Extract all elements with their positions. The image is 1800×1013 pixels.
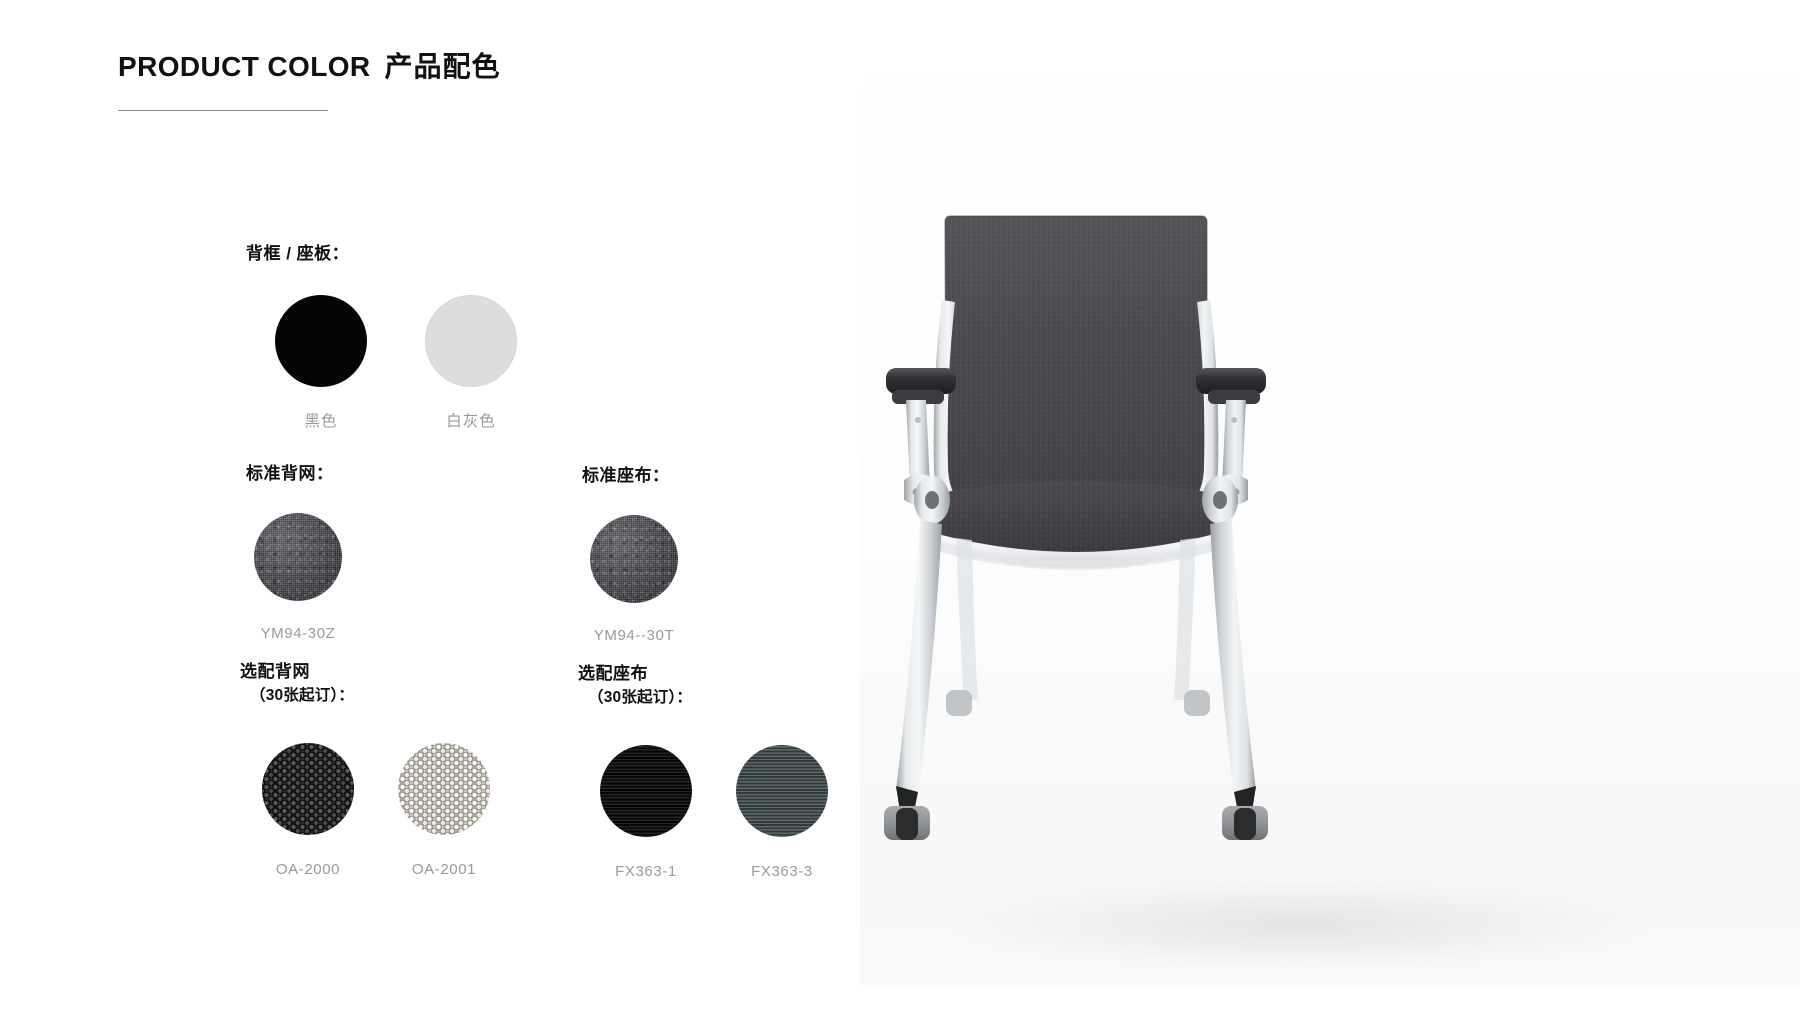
- swatch-cell-black[interactable]: 黑色: [246, 295, 396, 431]
- swatch-label-black: 黑色: [304, 409, 337, 431]
- swatch-cell-fx363-1[interactable]: FX363-1: [578, 745, 714, 880]
- swatch-group-frame-seat-board: 背框 / 座板： 黑色 白灰色: [246, 242, 546, 431]
- swatch-disc-white-grey[interactable]: [425, 295, 517, 387]
- swatch-label-fx363-1: FX363-1: [615, 863, 677, 880]
- swatch-label-ym94-30t: YM94--30T: [594, 627, 674, 644]
- swatch-disc-black[interactable]: [275, 295, 367, 387]
- swatch-row: YM94-30Z: [246, 513, 350, 642]
- swatch-cell-white-grey[interactable]: 白灰色: [396, 295, 546, 431]
- swatch-cell-ym94-30t[interactable]: YM94--30T: [582, 515, 686, 644]
- swatch-cell-fx363-3[interactable]: FX363-3: [714, 745, 850, 880]
- group-heading-frame-seat-board: 背框 / 座板：: [246, 242, 546, 267]
- swatch-group-optional-back-mesh: 选配背网 （30张起订）： OA-2000 OA-2001: [240, 660, 512, 878]
- swatch-row: 黑色 白灰色: [246, 295, 546, 431]
- swatch-disc-fx363-1[interactable]: [600, 745, 692, 837]
- swatch-disc-fx363-3[interactable]: [736, 745, 828, 837]
- group-heading-standard-seat-fabric: 标准座布：: [582, 464, 686, 489]
- swatch-disc-oa-2001[interactable]: [398, 743, 490, 835]
- swatch-label-oa-2000: OA-2000: [276, 861, 340, 878]
- chair-seat: [930, 481, 1222, 570]
- group-heading-line1: 选配背网: [240, 662, 310, 681]
- office-chair-illustration: [860, 0, 1800, 1013]
- swatch-disc-oa-2000[interactable]: [262, 743, 354, 835]
- swatch-group-standard-back-mesh: 标准背网： YM94-30Z: [246, 462, 350, 642]
- swatch-label-ym94-30z: YM94-30Z: [261, 625, 336, 642]
- swatch-row: FX363-1 FX363-3: [578, 745, 850, 880]
- group-heading-line2: （30张起订）：: [578, 687, 850, 709]
- group-heading-line2: （30张起订）：: [240, 685, 512, 707]
- swatch-disc-ym94-30t[interactable]: [590, 515, 678, 603]
- swatch-group-optional-seat-fabric: 选配座布 （30张起订）： FX363-1 FX363-3: [578, 662, 850, 880]
- swatch-cell-ym94-30z[interactable]: YM94-30Z: [246, 513, 350, 642]
- chair-castors: [884, 690, 1268, 840]
- color-swatch-panel: 背框 / 座板： 黑色 白灰色 标准背网： YM94-30Z 标准座布：: [0, 0, 860, 1013]
- group-heading-optional-back-mesh: 选配背网 （30张起订）：: [240, 660, 512, 707]
- swatch-cell-oa-2000[interactable]: OA-2000: [240, 743, 376, 878]
- swatch-label-white-grey: 白灰色: [446, 409, 496, 431]
- product-photo: [860, 0, 1800, 1013]
- group-heading-line1: 选配座布: [578, 664, 648, 683]
- group-heading-standard-back-mesh: 标准背网：: [246, 462, 350, 487]
- swatch-cell-oa-2001[interactable]: OA-2001: [376, 743, 512, 878]
- swatch-label-fx363-3: FX363-3: [751, 863, 813, 880]
- swatch-row: OA-2000 OA-2001: [240, 743, 512, 878]
- swatch-group-standard-seat-fabric: 标准座布： YM94--30T: [582, 464, 686, 644]
- group-heading-optional-seat-fabric: 选配座布 （30张起订）：: [578, 662, 850, 709]
- swatch-disc-ym94-30z[interactable]: [254, 513, 342, 601]
- chair-backrest: [945, 216, 1207, 502]
- swatch-label-oa-2001: OA-2001: [412, 861, 476, 878]
- swatch-row: YM94--30T: [582, 515, 686, 644]
